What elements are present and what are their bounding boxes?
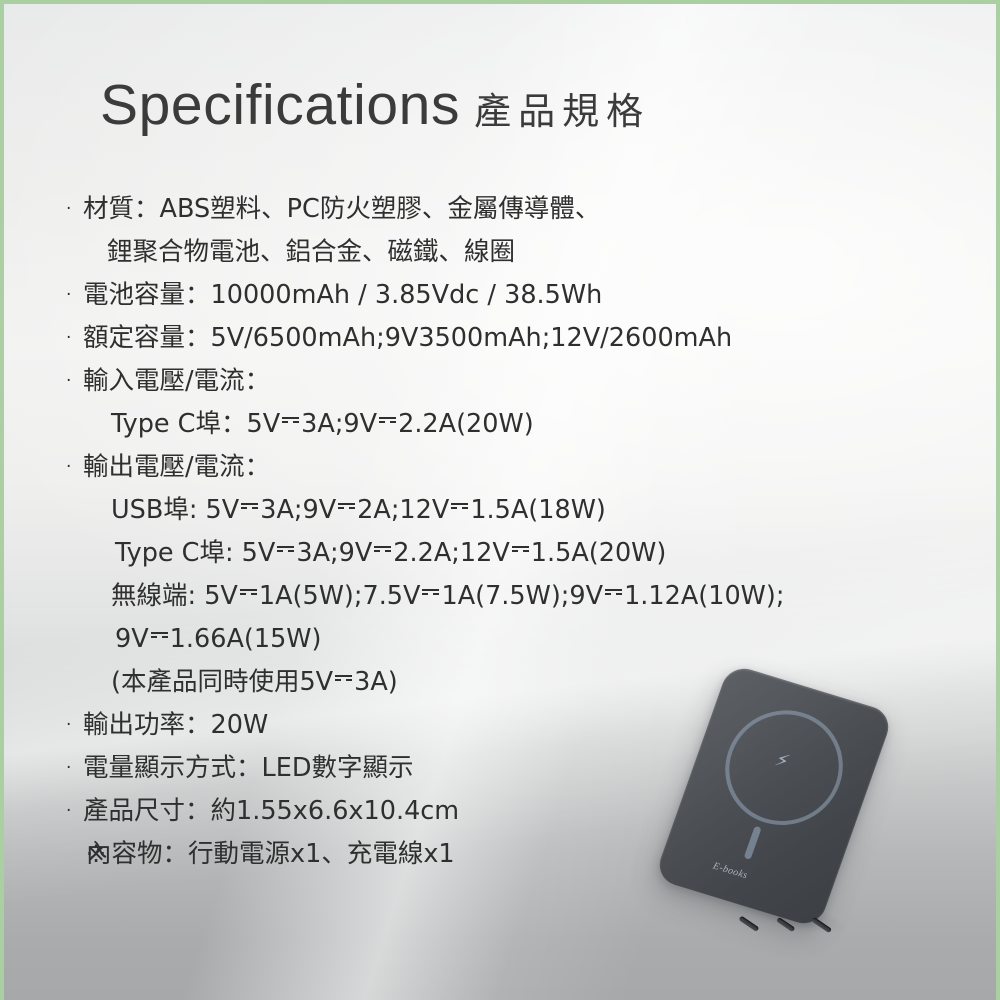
spec-line: ·電量顯示方式：LED數字顯示	[66, 747, 896, 790]
spec-line: ·輸出電壓/電流：	[66, 446, 896, 489]
dc-current-icon	[511, 536, 530, 562]
spec-line: ·(本產品同時使用5V3A)	[94, 661, 896, 704]
spec-bullet: ·	[66, 790, 83, 833]
usb-a-port-icon	[811, 917, 832, 933]
page-title-english: Specifications	[100, 72, 460, 138]
device-shadow	[688, 864, 878, 957]
specification-list: ·材質：ABS塑料、PC防火塑膠、金屬傳導體、·鋰聚合物電池、鋁合金、磁鐵、線圈…	[66, 188, 896, 876]
spec-text: 材質：ABS塑料、PC防火塑膠、金屬傳導體、	[83, 188, 600, 231]
spec-line: ·鋰聚合物電池、鋁合金、磁鐵、線圈	[90, 231, 896, 274]
spec-line: ·輸入電壓/電流：	[66, 360, 896, 403]
dc-current-icon	[604, 579, 623, 605]
spec-line: ·無線端: 5V1A(5W);7.5V1A(7.5W);9V1.12A(10W)…	[94, 575, 896, 618]
dc-current-icon	[421, 579, 440, 605]
spec-line: ·Type C埠：5V3A;9V2.2A(20W)	[94, 403, 896, 446]
dc-current-icon	[239, 579, 258, 605]
spec-text: 輸入電壓/電流：	[83, 360, 270, 403]
spec-line: ·USB埠: 5V3A;9V2A;12V1.5A(18W)	[94, 489, 896, 532]
dc-current-icon	[240, 493, 259, 519]
spec-sheet-page: Specifications 產品規格 ·材質：ABS塑料、PC防火塑膠、金屬傳…	[0, 0, 1000, 1000]
spec-line: ·產品尺寸：約1.55x6.6x10.4cm	[66, 790, 896, 833]
spec-line: ·材質：ABS塑料、PC防火塑膠、金屬傳導體、	[66, 188, 896, 231]
spec-line: ·額定容量：5V/6500mAh;9V3500mAh;12V/2600mAh	[66, 317, 896, 360]
page-title-chinese: 產品規格	[474, 81, 650, 135]
spec-text: 鋰聚合物電池、鋁合金、磁鐵、線圈	[107, 231, 515, 274]
micro-usb-port-icon	[776, 917, 795, 932]
usb-c-port-icon	[738, 916, 759, 932]
spec-bullet: ·	[66, 446, 83, 489]
spec-text: 額定容量：5V/6500mAh;9V3500mAh;12V/2600mAh	[83, 317, 732, 360]
dc-current-icon	[378, 407, 397, 433]
spec-text: USB埠: 5V3A;9V2A;12V1.5A(18W)	[111, 489, 606, 532]
dc-current-icon	[450, 493, 469, 519]
dc-current-icon	[337, 493, 356, 519]
spec-bullet: ·	[66, 704, 83, 747]
spec-line: ·Type C埠: 5V3A;9V2.2A;12V1.5A(20W)	[98, 532, 896, 575]
spec-text: 無線端: 5V1A(5W);7.5V1A(7.5W);9V1.12A(10W);	[111, 575, 784, 618]
dc-current-icon	[281, 407, 300, 433]
spec-text: 產品尺寸：約1.55x6.6x10.4cm	[83, 790, 459, 833]
spec-line: ·9V1.66A(15W)	[98, 618, 896, 661]
spec-text: 內容物：行動電源x1、充電線x1	[86, 833, 455, 876]
spec-bullet: ·	[66, 274, 83, 317]
spec-line: ·輸出功率：20W	[66, 704, 896, 747]
spec-line: ※內容物：行動電源x1、充電線x1	[86, 833, 896, 876]
spec-text: 輸出電壓/電流：	[83, 446, 270, 489]
spec-text: (本產品同時使用5V3A)	[111, 661, 398, 704]
spec-text: Type C埠：5V3A;9V2.2A(20W)	[111, 403, 534, 446]
spec-text: 9V1.66A(15W)	[115, 618, 321, 661]
dc-current-icon	[373, 536, 392, 562]
spec-bullet: ·	[66, 317, 83, 360]
spec-text: 輸出功率：20W	[83, 704, 268, 747]
spec-bullet: ·	[66, 747, 83, 790]
spec-line: ·電池容量：10000mAh / 3.85Vdc / 38.5Wh	[66, 274, 896, 317]
spec-bullet: ·	[66, 360, 83, 403]
spec-bullet: ·	[66, 188, 83, 231]
spec-text: 電量顯示方式：LED數字顯示	[83, 747, 413, 790]
dc-current-icon	[276, 536, 295, 562]
dc-current-icon	[334, 665, 353, 691]
dc-current-icon	[150, 622, 169, 648]
spec-text: Type C埠: 5V3A;9V2.2A;12V1.5A(20W)	[115, 532, 666, 575]
page-title: Specifications 產品規格	[100, 72, 650, 138]
spec-text: 電池容量：10000mAh / 3.85Vdc / 38.5Wh	[83, 274, 602, 317]
